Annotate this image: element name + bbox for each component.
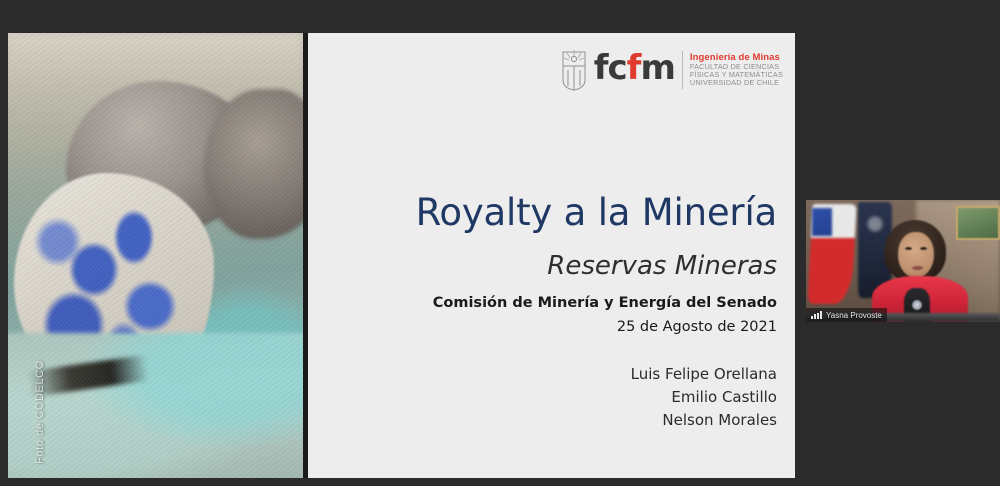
logo-text-block: Ingeniería de Minas FACULTAD DE CIENCIAS… <box>690 53 783 88</box>
author-name: Luis Felipe Orellana <box>308 363 777 386</box>
logo-divider <box>682 51 683 89</box>
participant-name-label: Yasna Provoste <box>826 311 882 320</box>
participant-name-bar: Yasna Provoste <box>806 308 887 322</box>
meeting-window: Foto de CODELCO <box>0 0 1000 486</box>
author-name: Emilio Castillo <box>308 386 777 409</box>
slide-title: Royalty a la Minería <box>308 191 777 234</box>
fcfm-wordmark: fcfm <box>594 51 675 85</box>
fcfm-wordmark-m: m <box>640 48 674 88</box>
author-name: Nelson Morales <box>308 409 777 432</box>
slide-subtitle: Reservas Mineras <box>308 251 777 281</box>
signal-strength-icon <box>811 311 822 319</box>
fcfm-wordmark-fc: fc <box>594 48 627 88</box>
fcfm-logo: fcfm Ingeniería de Minas FACULTAD DE CIE… <box>561 45 783 95</box>
photo-credit-label: Foto de CODELCO <box>34 360 46 464</box>
slide-authors: Luis Felipe Orellana Emilio Castillo Nel… <box>308 363 777 431</box>
universidad-de-chile-shield-icon <box>561 48 587 92</box>
participant-face <box>898 232 934 278</box>
slide-photo: Foto de CODELCO <box>8 33 303 478</box>
shared-screen-slide[interactable]: Foto de CODELCO <box>8 33 795 478</box>
fcfm-wordmark-f: f <box>627 48 641 88</box>
slide-date: 25 de Agosto de 2021 <box>308 319 777 335</box>
wall-picture-frame <box>956 206 1000 240</box>
logo-faculty-line-3: UNIVERSIDAD DE CHILE <box>690 79 783 87</box>
slide-content-panel: fcfm Ingeniería de Minas FACULTAD DE CIE… <box>308 33 795 478</box>
slide-committee: Comisión de Minería y Energía del Senado <box>308 295 777 311</box>
participant-video-tile[interactable]: Yasna Provoste <box>806 200 1000 322</box>
